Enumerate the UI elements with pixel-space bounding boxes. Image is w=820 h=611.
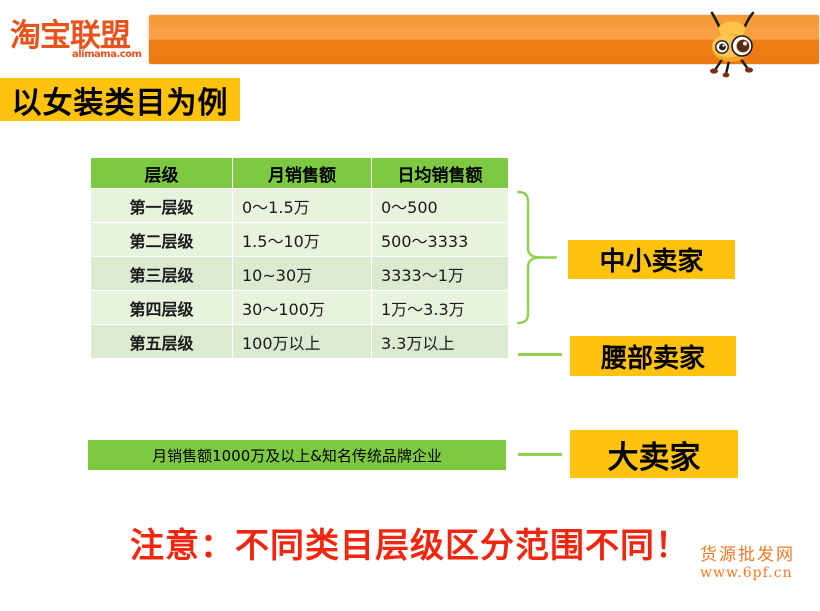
big-seller-criteria-text: 月销售额1000万及以上&知名传统品牌企业 <box>152 445 442 466</box>
badge-waist-sellers: 腰部卖家 <box>570 336 736 376</box>
table-row: 第五层级 100万以上 3.3万以上 <box>91 325 509 359</box>
logo-sub-text: alimama.com <box>72 49 141 60</box>
badge-big-label: 大卖家 <box>608 432 701 477</box>
ant-mascot-icon <box>690 6 774 84</box>
cell-daily: 0～500 <box>372 189 509 223</box>
badge-waist-label: 腰部卖家 <box>601 338 705 375</box>
column-header-tier: 层级 <box>91 158 233 189</box>
watermark: 货源批发网 www.6pf.cn <box>700 545 818 591</box>
badge-sme-sellers: 中小卖家 <box>568 240 735 279</box>
cell-monthly: 100万以上 <box>233 325 372 359</box>
line-connector-waist <box>518 353 562 356</box>
table-row: 第四层级 30～100万 1万～3.3万 <box>91 291 509 325</box>
table-row: 第一层级 0～1.5万 0～500 <box>91 189 509 223</box>
cell-daily: 3333～1万 <box>372 257 509 291</box>
table-header-row: 层级 月销售额 日均销售额 <box>91 158 509 189</box>
cell-tier: 第五层级 <box>91 325 233 359</box>
badge-sme-label: 中小卖家 <box>599 241 703 278</box>
cell-monthly: 10~30万 <box>233 257 372 291</box>
cell-tier: 第二层级 <box>91 223 233 257</box>
table-row: 第二层级 1.5～10万 500～3333 <box>91 223 509 257</box>
cell-daily: 1万～3.3万 <box>372 291 509 325</box>
cell-monthly: 30～100万 <box>233 291 372 325</box>
warning-note: 注意：不同类目层级区分范围不同！ <box>0 518 820 567</box>
taobao-alliance-logo: 淘宝联盟 alimama.com <box>10 20 148 64</box>
cell-tier: 第四层级 <box>91 291 233 325</box>
badge-big-sellers: 大卖家 <box>570 430 738 478</box>
cell-daily: 3.3万以上 <box>372 325 509 359</box>
brace-connector-icon <box>516 190 558 325</box>
watermark-url: www.6pf.cn <box>700 565 818 582</box>
page-title: 以女装类目为例 <box>0 78 240 121</box>
cell-daily: 500～3333 <box>372 223 509 257</box>
watermark-site-name: 货源批发网 <box>700 545 818 565</box>
column-header-monthly: 月销售额 <box>233 158 372 189</box>
page-title-text: 以女装类目为例 <box>12 78 229 122</box>
cell-monthly: 1.5～10万 <box>233 223 372 257</box>
slide-canvas: 淘宝联盟 alimama.com <box>0 0 820 611</box>
table-row: 第三层级 10~30万 3333～1万 <box>91 257 509 291</box>
cell-monthly: 0～1.5万 <box>233 189 372 223</box>
line-connector-big <box>518 453 562 456</box>
cell-tier: 第三层级 <box>91 257 233 291</box>
column-header-daily: 日均销售额 <box>372 158 509 189</box>
cell-tier: 第一层级 <box>91 189 233 223</box>
seller-tier-table: 层级 月销售额 日均销售额 第一层级 0～1.5万 0～500 第二层级 1.5… <box>90 157 509 359</box>
big-seller-criteria-box: 月销售额1000万及以上&知名传统品牌企业 <box>88 440 506 470</box>
